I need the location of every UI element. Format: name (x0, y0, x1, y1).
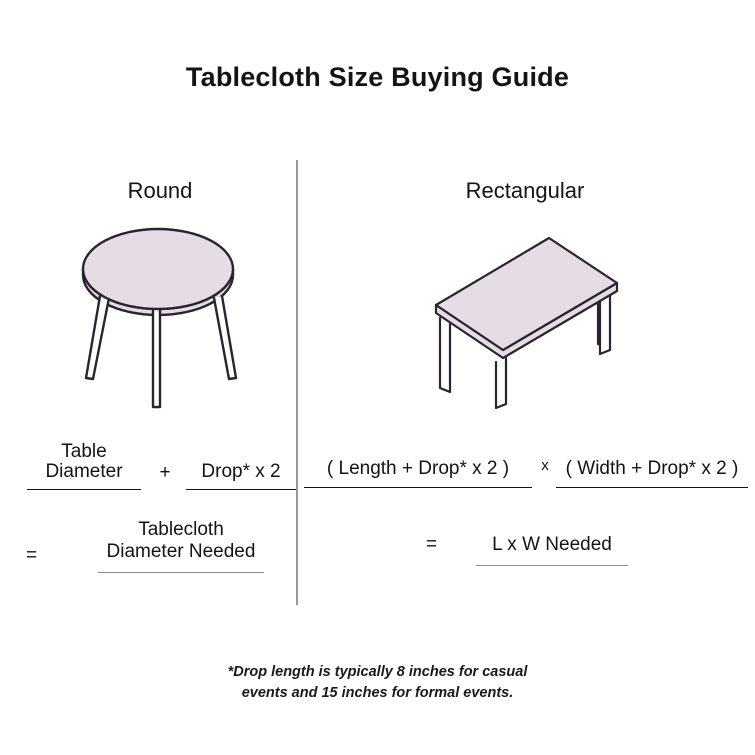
infographic-page: Tablecloth Size Buying Guide Round Recta… (0, 0, 755, 755)
rectangular-table-illustration (420, 232, 635, 422)
round-result: Tablecloth Diameter Needed (66, 519, 296, 563)
round-equals-sign: = (26, 545, 37, 567)
round-table-leg-center (153, 306, 160, 407)
rect-group-width: ( Width + Drop* x 2 ) (556, 458, 748, 480)
rect-table-top (436, 238, 617, 350)
round-result-line-b: Diameter Needed (107, 541, 256, 562)
round-table-icon (62, 222, 282, 417)
footnote: *Drop length is typically 8 inches for c… (0, 662, 755, 704)
column-heading-rectangular: Rectangular (375, 178, 675, 204)
page-title: Tablecloth Size Buying Guide (0, 62, 755, 93)
round-result-line-a: Tablecloth (138, 519, 224, 540)
rectangular-table-icon (420, 232, 635, 417)
rect-group-2-label: ( Width + Drop* x 2 ) (566, 458, 739, 479)
rect-table-leg-front-left (440, 318, 450, 392)
rect-group-length: ( Length + Drop* x 2 ) (304, 458, 532, 480)
footnote-line-2: events and 15 inches for formal events. (0, 683, 755, 704)
rect-result-label: L x W Needed (492, 534, 612, 555)
rect-result: L x W Needed (462, 534, 642, 556)
round-term-2-rule (186, 489, 296, 491)
round-term-2-label: Drop* x 2 (201, 461, 280, 482)
round-formula-line-2: = Tablecloth Diameter Needed (18, 515, 296, 579)
round-operator-plus: + (150, 462, 180, 484)
rectangular-formula-line-1: ( Length + Drop* x 2 ) x ( Width + Drop*… (300, 458, 752, 498)
rect-group-1-rule (304, 487, 532, 489)
column-heading-round: Round (30, 178, 290, 204)
rect-table-leg-front-center (496, 358, 506, 408)
rect-group-2-rule (556, 487, 748, 489)
rect-group-1-label: ( Length + Drop* x 2 ) (327, 458, 509, 479)
round-formula-line-1: Table Diameter + Drop* x 2 (18, 440, 296, 492)
rectangular-formula-line-2: = L x W Needed (300, 528, 752, 568)
round-term-drop: Drop* x 2 (186, 462, 296, 482)
rect-operator-times: x (532, 457, 558, 474)
round-term-line-a: Table (61, 441, 106, 462)
round-term-line-b: Diameter (45, 461, 122, 482)
column-divider (296, 160, 298, 605)
rect-result-rule (476, 565, 627, 567)
round-table-illustration (62, 222, 282, 422)
round-table-leg-right (214, 296, 236, 379)
round-table-top (83, 229, 233, 309)
rect-equals-sign: = (426, 534, 437, 556)
round-term-table-diameter: Table Diameter (27, 442, 141, 482)
round-result-rule (98, 572, 264, 574)
round-table-leg-left (86, 296, 109, 379)
round-term-1-rule (27, 489, 141, 491)
footnote-line-1: *Drop length is typically 8 inches for c… (0, 662, 755, 683)
